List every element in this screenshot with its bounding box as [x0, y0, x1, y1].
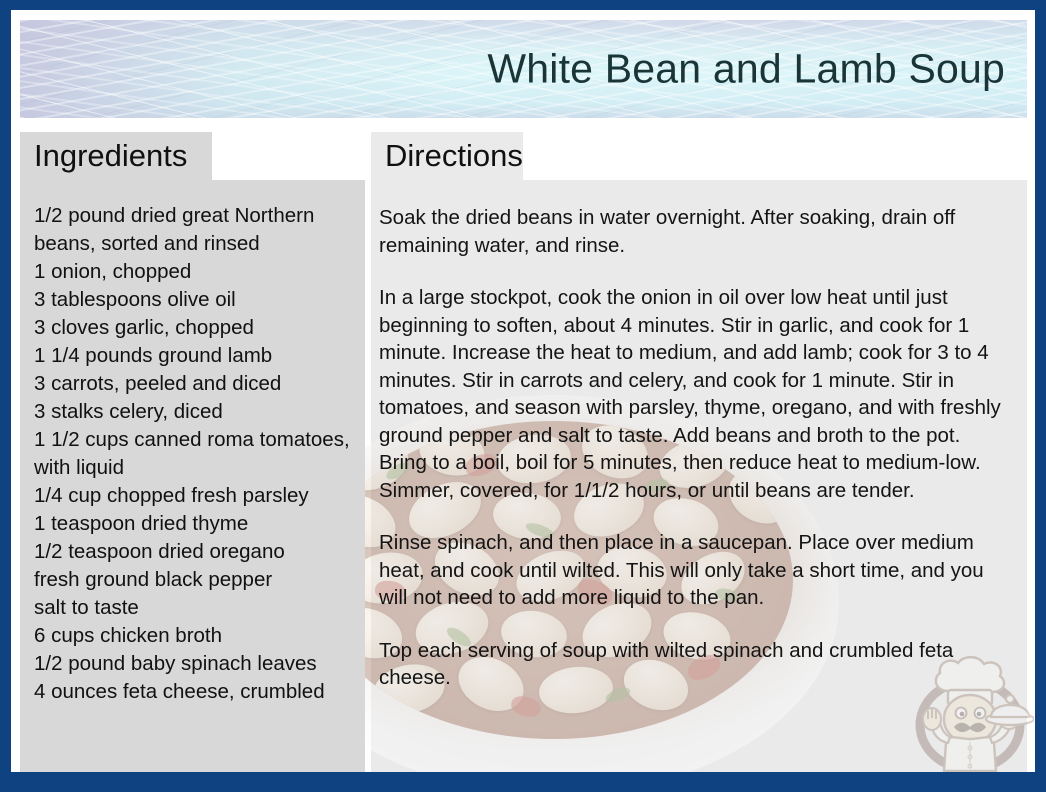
list-item: 1/4 cup chopped fresh parsley [34, 482, 355, 510]
slide-page: White Bean and Lamb Soup [11, 10, 1035, 772]
directions-heading: Directions [371, 132, 523, 180]
list-item: 1/2 teaspoon dried oregano [34, 538, 355, 566]
directions-paragraph: Soak the dried beans in water overnight.… [379, 204, 1013, 259]
list-item: 1/2 pound dried great Northern beans, so… [34, 202, 355, 258]
page-title: White Bean and Lamb Soup [487, 46, 1005, 93]
list-item: 3 tablespoons olive oil [34, 286, 355, 314]
list-item: 1 teaspoon dried thyme [34, 510, 355, 538]
ingredients-list: 1/2 pound dried great Northern beans, so… [34, 202, 355, 706]
directions-panel: Soak the dried beans in water overnight.… [371, 180, 1027, 772]
list-item: 6 cups chicken broth [34, 622, 355, 650]
directions-paragraph: Rinse spinach, and then place in a sauce… [379, 529, 1013, 612]
list-item: fresh ground black pepper [34, 566, 355, 594]
list-item: 3 carrots, peeled and diced [34, 370, 355, 398]
list-item: 4 ounces feta cheese, crumbled [34, 678, 355, 706]
recipe-slide: White Bean and Lamb Soup [0, 0, 1046, 792]
ingredients-panel: 1/2 pound dried great Northern beans, so… [20, 180, 365, 772]
list-item: 1 onion, chopped [34, 258, 355, 286]
list-item: 3 stalks celery, diced [34, 398, 355, 426]
list-item: salt to taste [34, 594, 355, 622]
list-item: 1 1/2 cups canned roma tomatoes, with li… [34, 426, 355, 482]
list-item: 3 cloves garlic, chopped [34, 314, 355, 342]
ingredients-heading: Ingredients [20, 132, 212, 180]
list-item: 1/2 pound baby spinach leaves [34, 650, 355, 678]
directions-paragraph: Top each serving of soup with wilted spi… [379, 637, 1013, 692]
title-banner: White Bean and Lamb Soup [20, 20, 1027, 118]
directions-text: Soak the dried beans in water overnight.… [379, 204, 1013, 692]
list-item: 1 1/4 pounds ground lamb [34, 342, 355, 370]
directions-paragraph: In a large stockpot, cook the onion in o… [379, 284, 1013, 504]
